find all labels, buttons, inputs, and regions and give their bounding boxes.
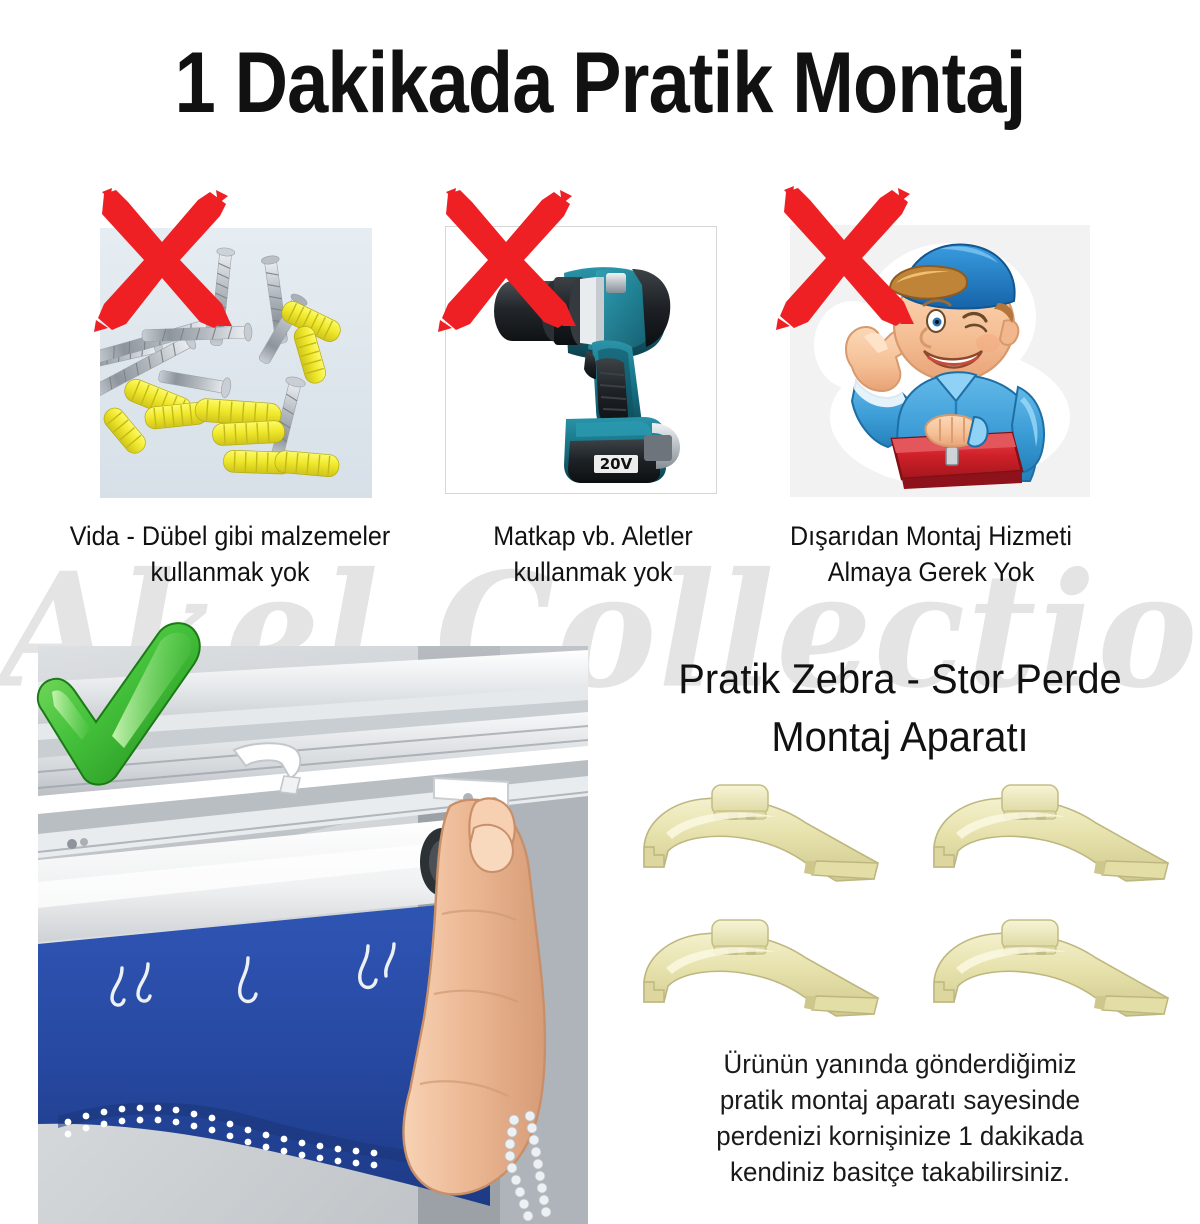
product-description: Ürünün yanında gönderdiğimiz pratik mont… <box>631 1046 1169 1190</box>
green-check-mark <box>24 618 214 788</box>
product-heading: Pratik Zebra - Stor Perde Montaj Aparatı <box>615 650 1185 766</box>
description-line-2: pratik montaj aparatı sayesinde <box>631 1082 1169 1118</box>
mounting-clips-grid <box>620 775 1180 1030</box>
handyman-with-toolbox-illustration <box>790 225 1090 497</box>
page-title: 1 Dakikada Pratik Montaj <box>84 34 1116 132</box>
mounting-clip-bracket <box>920 775 1180 893</box>
caption-installer: Dışarıdan Montaj Hizmeti Almaya Gerek Yo… <box>768 518 1094 590</box>
mounting-clip-bracket <box>630 775 890 893</box>
battery-voltage-label: 20V <box>600 455 633 473</box>
screws-and-wall-plugs-photo <box>100 228 372 498</box>
mounting-clip-bracket <box>920 910 1180 1028</box>
mounting-clip-bracket <box>630 910 890 1028</box>
caption-screws-dowels: Vida - Dübel gibi malzemeler kullanmak y… <box>35 518 426 590</box>
caption-line-2: kullanmak yok <box>458 554 728 590</box>
description-line-3: perdenizi kornişinize 1 dakikada <box>631 1118 1169 1154</box>
prohibited-items-row: 20V <box>0 180 1200 510</box>
product-heading-line-1: Pratik Zebra - Stor Perde <box>615 650 1185 708</box>
prohibited-item-installer <box>760 180 1100 510</box>
prohibited-item-screws-dowels <box>40 180 420 510</box>
product-heading-line-2: Montaj Aparatı <box>615 708 1185 766</box>
caption-drill: Matkap vb. Aletler kullanmak yok <box>458 518 728 590</box>
caption-line-1: Matkap vb. Aletler <box>458 518 728 554</box>
caption-line-2: kullanmak yok <box>35 554 426 590</box>
description-line-1: Ürünün yanında gönderdiğimiz <box>631 1046 1169 1082</box>
description-line-4: kendiniz basitçe takabilirsiniz. <box>631 1154 1169 1190</box>
prohibited-item-drill: 20V <box>420 180 760 510</box>
caption-line-1: Vida - Dübel gibi malzemeler <box>35 518 426 554</box>
caption-line-2: Almaya Gerek Yok <box>768 554 1094 590</box>
cordless-drill-photo: 20V <box>445 226 717 494</box>
caption-line-1: Dışarıdan Montaj Hizmeti <box>768 518 1094 554</box>
